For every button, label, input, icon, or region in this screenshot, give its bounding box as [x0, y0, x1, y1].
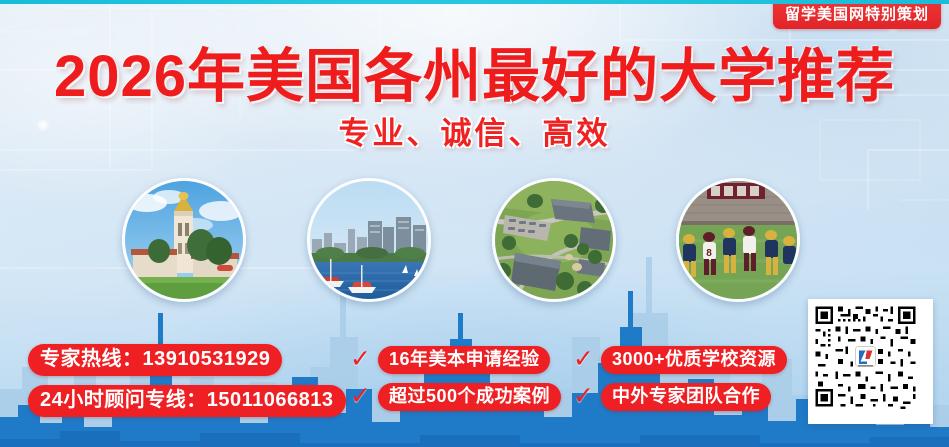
svg-text:8: 8 — [706, 248, 712, 259]
feature-row: ✓ 超过500个成功案例 — [350, 383, 561, 411]
promo-banner: 留学美国网特别策划 2026年美国各州最好的大学推荐 专业、诚信、高效 — [0, 0, 949, 447]
check-icon: ✓ — [573, 347, 594, 372]
features-right-column: ✓ 3000+优质学校资源 ✓ 中外专家团队合作 — [573, 346, 787, 420]
feature-school-resources: 3000+优质学校资源 — [601, 346, 787, 374]
contact-info-column: 专家热线：13910531929 24小时顾问专线：15011066813 — [28, 344, 346, 426]
feature-experience-years: 16年美本申请经验 — [378, 346, 551, 374]
page-title: 2026年美国各州最好的大学推荐 — [0, 48, 949, 106]
contact-row: 24小时顾问专线：15011066813 — [28, 385, 346, 417]
contact-row: 专家热线：13910531929 — [28, 344, 346, 376]
page-subtitle: 专业、诚信、高效 — [0, 118, 949, 149]
qr-code[interactable] — [813, 304, 918, 409]
qr-code-container[interactable] — [808, 299, 933, 424]
photo-college-football-game: 8 — [676, 178, 800, 302]
check-icon: ✓ — [350, 384, 371, 409]
photo-campus-bell-tower — [122, 178, 246, 302]
feature-row: ✓ 中外专家团队合作 — [573, 383, 787, 411]
features-middle-column: ✓ 16年美本申请经验 ✓ 超过500个成功案例 — [350, 346, 561, 420]
feature-success-cases: 超过500个成功案例 — [378, 383, 561, 411]
photo-campus-aerial-view — [492, 178, 616, 302]
check-icon: ✓ — [350, 347, 371, 372]
photo-gallery: 8 — [0, 176, 949, 308]
photo-river-city-skyline — [307, 178, 431, 302]
expert-hotline: 专家热线：13910531929 — [28, 344, 282, 376]
top-accent-strip — [0, 0, 949, 4]
advisor-hotline-24h: 24小时顾问专线：15011066813 — [28, 385, 346, 417]
check-icon: ✓ — [573, 384, 594, 409]
feature-row: ✓ 16年美本申请经验 — [350, 346, 561, 374]
special-feature-badge: 留学美国网特别策划 — [773, 0, 941, 29]
feature-expert-team: 中外专家团队合作 — [601, 383, 771, 411]
feature-row: ✓ 3000+优质学校资源 — [573, 346, 787, 374]
